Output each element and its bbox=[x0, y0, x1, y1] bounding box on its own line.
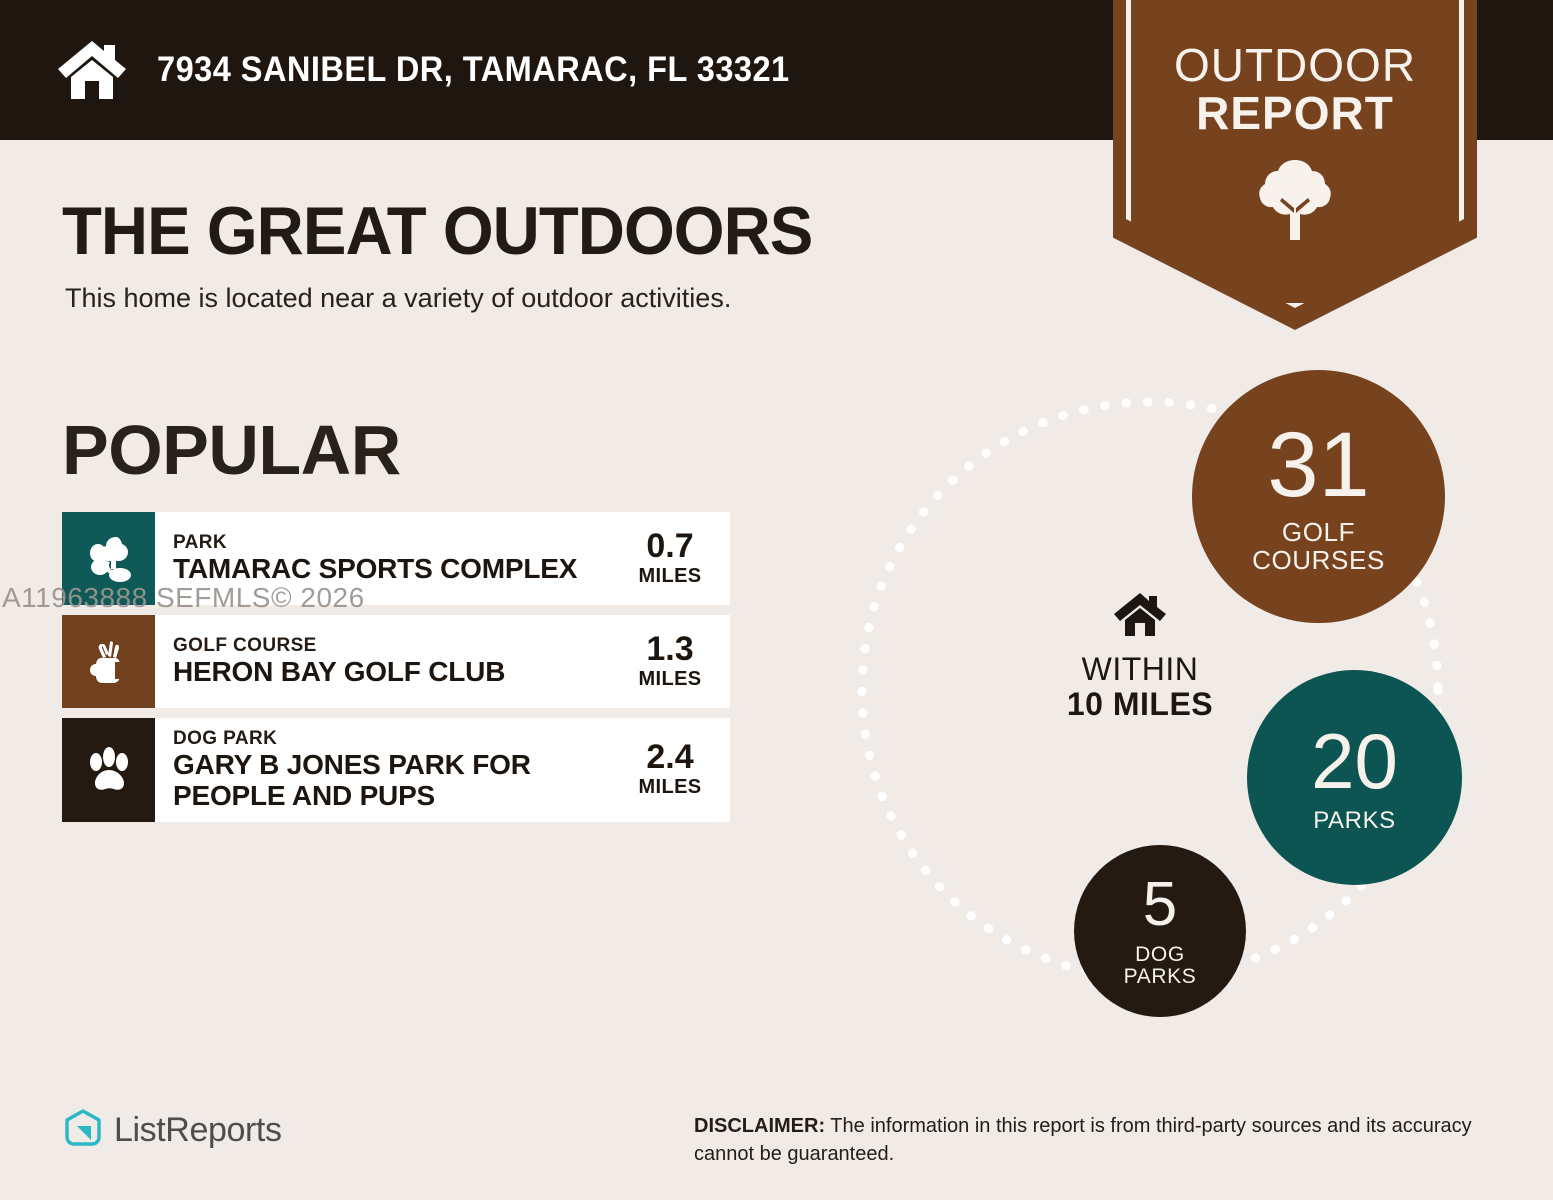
home-icon bbox=[1035, 592, 1245, 638]
list-item-name: GARY B JONES PARK FOR PEOPLE AND PUPS bbox=[173, 750, 624, 812]
stat-label-line2: PARKS bbox=[1124, 965, 1197, 988]
disclaimer: DISCLAIMER: The information in this repo… bbox=[694, 1113, 1494, 1168]
list-item[interactable]: GOLF COURSE HERON BAY GOLF CLUB 1.3 MILE… bbox=[62, 615, 730, 708]
badge-line2: REPORT bbox=[1113, 90, 1477, 138]
distance-value: 2.4 bbox=[624, 740, 716, 774]
stats-diagram: WITHIN 10 MILES 31 GOLF COURSES 20 PARKS… bbox=[820, 360, 1520, 1040]
list-item[interactable]: DOG PARK GARY B JONES PARK FOR PEOPLE AN… bbox=[62, 718, 730, 822]
stat-circle-dog-parks: 5 DOG PARKS bbox=[1074, 845, 1246, 1017]
list-item-text: PARK TAMARAC SPORTS COMPLEX bbox=[173, 532, 624, 585]
within-line1: WITHIN bbox=[1035, 652, 1245, 687]
list-item-category: PARK bbox=[173, 532, 624, 553]
badge-line1: OUTDOOR bbox=[1113, 42, 1477, 90]
disclaimer-label: DISCLAIMER: bbox=[694, 1115, 825, 1137]
listreports-house-icon bbox=[62, 1107, 104, 1154]
property-address: 7934 SANIBEL DR, TAMARAC, FL 33321 bbox=[157, 50, 790, 90]
header-content: 7934 SANIBEL DR, TAMARAC, FL 33321 bbox=[55, 0, 837, 140]
within-line2: 10 MILES bbox=[1035, 687, 1245, 722]
list-item-body: GOLF COURSE HERON BAY GOLF CLUB 1.3 MILE… bbox=[155, 615, 730, 708]
stat-label: GOLF COURSES bbox=[1252, 519, 1385, 575]
stat-value: 31 bbox=[1267, 419, 1369, 511]
listreports-logo[interactable]: ListReports bbox=[62, 1107, 282, 1154]
mls-watermark: A11963888 SEFMLS© 2026 bbox=[2, 582, 365, 614]
outdoor-report-badge: OUTDOOR REPORT bbox=[1113, 0, 1477, 330]
distance-unit: MILES bbox=[624, 668, 716, 691]
list-item-text: GOLF COURSE HERON BAY GOLF CLUB bbox=[173, 635, 624, 688]
page-title: THE GREAT OUTDOORS bbox=[62, 192, 812, 270]
badge-text: OUTDOOR REPORT bbox=[1113, 42, 1477, 138]
section-heading-popular: POPULAR bbox=[62, 410, 401, 490]
listreports-logo-text: ListReports bbox=[114, 1111, 282, 1150]
golf-bag-icon bbox=[62, 615, 155, 708]
list-item-category: DOG PARK bbox=[173, 728, 624, 749]
list-item-name: TAMARAC SPORTS COMPLEX bbox=[173, 554, 624, 585]
stat-value: 20 bbox=[1311, 722, 1398, 800]
stat-label-line2: COURSES bbox=[1252, 545, 1385, 575]
list-item-text: DOG PARK GARY B JONES PARK FOR PEOPLE AN… bbox=[173, 728, 624, 812]
distance-unit: MILES bbox=[624, 776, 716, 799]
list-item-body: DOG PARK GARY B JONES PARK FOR PEOPLE AN… bbox=[155, 718, 730, 822]
page-subtitle: This home is located near a variety of o… bbox=[65, 283, 731, 314]
home-icon bbox=[55, 39, 129, 101]
outdoor-report-page: 7934 SANIBEL DR, TAMARAC, FL 33321 OUTDO… bbox=[0, 0, 1553, 1200]
stat-label-line1: DOG bbox=[1135, 943, 1185, 966]
stat-label-line1: GOLF bbox=[1282, 517, 1355, 547]
popular-places-list: PARK TAMARAC SPORTS COMPLEX 0.7 MILES bbox=[62, 512, 730, 832]
list-item-category: GOLF COURSE bbox=[173, 635, 624, 656]
list-item-name: HERON BAY GOLF CLUB bbox=[173, 657, 624, 688]
distance-unit: MILES bbox=[624, 565, 716, 588]
stat-label: DOG PARKS bbox=[1124, 944, 1197, 989]
list-item-distance: 2.4 MILES bbox=[624, 740, 724, 799]
distance-value: 0.7 bbox=[624, 529, 716, 563]
stat-circle-parks: 20 PARKS bbox=[1247, 670, 1462, 885]
list-item-distance: 1.3 MILES bbox=[624, 632, 724, 691]
list-item-distance: 0.7 MILES bbox=[624, 529, 724, 588]
distance-value: 1.3 bbox=[624, 632, 716, 666]
stat-circle-golf-courses: 31 GOLF COURSES bbox=[1192, 370, 1445, 623]
paw-print-icon bbox=[62, 718, 155, 822]
stat-label: PARKS bbox=[1313, 808, 1396, 834]
within-radius-label: WITHIN 10 MILES bbox=[1035, 592, 1245, 722]
stat-value: 5 bbox=[1143, 874, 1177, 936]
